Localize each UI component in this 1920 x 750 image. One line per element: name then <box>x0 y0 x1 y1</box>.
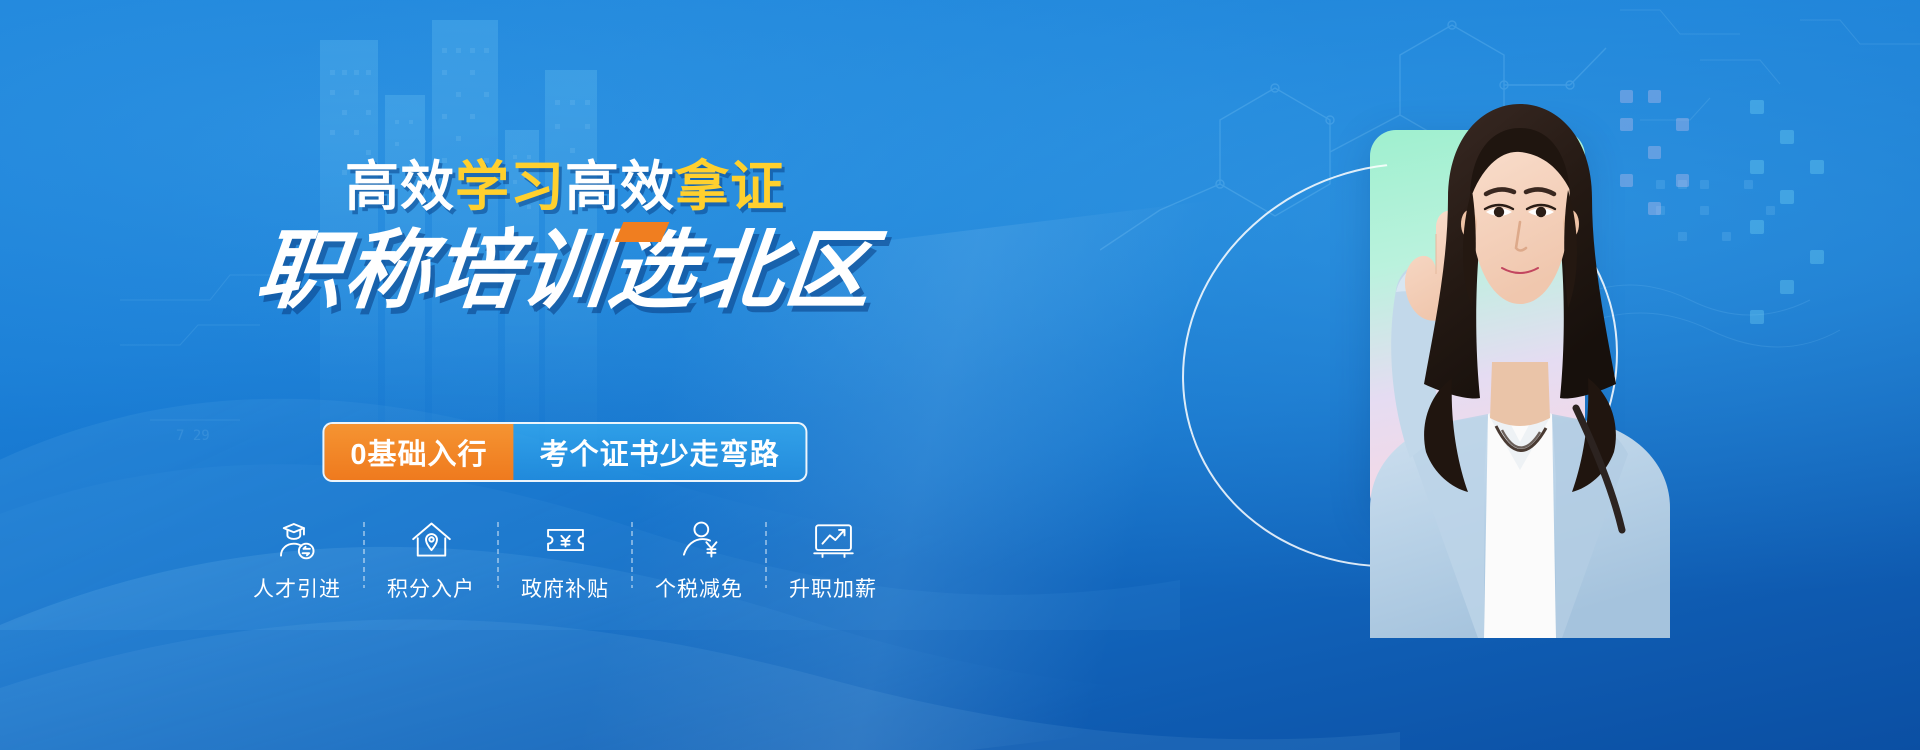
hero-illustration <box>1040 0 1920 750</box>
headline-main-prefix: 职称培训 <box>252 223 614 319</box>
feature-label: 个税减免 <box>655 573 743 603</box>
feature-item-promotion[interactable]: 升职加薪 <box>767 518 900 603</box>
feature-label: 人才引进 <box>253 573 341 603</box>
feature-item-talent[interactable]: 人才引进 <box>231 518 364 603</box>
headline-main-accent-char: 选 <box>604 223 702 319</box>
person-yuan-icon <box>677 518 721 562</box>
headline-accent-mark: 选 <box>604 228 701 314</box>
tagline-pill: 0基础入行 考个证书少走弯路 <box>322 422 807 482</box>
tagline-left-label: 0基础入行 <box>324 424 513 480</box>
feature-list: 人才引进 积分入户 <box>231 518 900 603</box>
headline-seg-3: 高效 <box>565 157 675 217</box>
feature-item-residence[interactable]: 积分入户 <box>365 518 498 603</box>
house-location-icon <box>409 518 453 562</box>
presenter-photo <box>1220 78 1740 638</box>
feature-item-subsidy[interactable]: 政府补贴 <box>499 518 632 603</box>
headline-main: 职称培训选北区 <box>0 228 1135 314</box>
growth-chart-icon <box>811 518 855 562</box>
feature-label: 政府补贴 <box>521 573 609 603</box>
ticket-yuan-icon <box>543 518 587 562</box>
headline-seg-2: 学习 <box>455 157 565 217</box>
tagline-right-label: 考个证书少走弯路 <box>514 424 806 480</box>
feature-label: 升职加薪 <box>789 573 877 603</box>
graduate-talent-icon <box>275 518 319 562</box>
copy-block: 高效学习高效拿证 职称培训选北区 0基础入行 考个证书少走弯路 <box>0 0 1130 750</box>
headline-main-suffix: 北区 <box>692 223 878 319</box>
headline-seg-4: 拿证 <box>675 157 785 217</box>
headline-seg-1: 高效 <box>345 157 455 217</box>
promo-banner: 7 29 <box>0 0 1920 750</box>
headline-subtitle: 高效学习高效拿证 <box>0 160 1130 214</box>
feature-item-tax[interactable]: 个税减免 <box>633 518 766 603</box>
feature-label: 积分入户 <box>387 573 475 603</box>
